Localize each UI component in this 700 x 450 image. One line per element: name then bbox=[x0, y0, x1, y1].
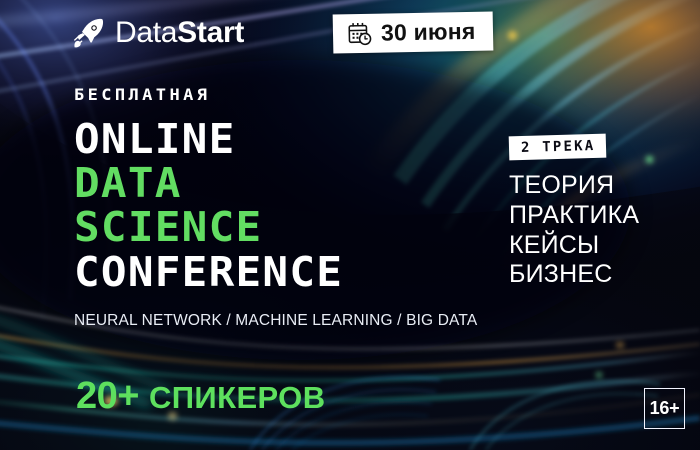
track-item-cases: КЕЙСЫ bbox=[509, 231, 639, 261]
speakers-label: СПИКЕРОВ bbox=[149, 380, 326, 416]
speakers-block: 20+ СПИКЕРОВ bbox=[76, 375, 325, 418]
banner-content: DataStart bbox=[0, 0, 700, 450]
brand-text-bold: Start bbox=[177, 16, 244, 49]
tracks-block: 2 ТРЕКА ТЕОРИЯ ПРАКТИКА КЕЙСЫ БИЗНЕС bbox=[509, 135, 639, 290]
headline-subline: NEURAL NETWORK / MACHINE LEARNING / BIG … bbox=[74, 312, 477, 330]
brand-wordmark: DataStart bbox=[115, 18, 244, 48]
track-item-practice: ПРАКТИКА bbox=[509, 201, 639, 231]
brand-logo[interactable]: DataStart bbox=[72, 16, 244, 50]
age-rating-text: 16+ bbox=[650, 398, 680, 419]
headline-block: БЕСПЛАТНАЯ ONLINE DATA SCIENCE CONFERENC… bbox=[74, 88, 333, 296]
brand-text-light: Data bbox=[115, 16, 177, 49]
tracks-list: ТЕОРИЯ ПРАКТИКА КЕЙСЫ БИЗНЕС bbox=[509, 171, 639, 290]
event-banner: DataStart bbox=[0, 0, 700, 450]
age-rating-badge: 16+ bbox=[644, 388, 685, 429]
date-badge-text: 30 июня bbox=[381, 20, 476, 45]
headline-kicker: БЕСПЛАТНАЯ bbox=[74, 88, 333, 104]
calendar-clock-icon bbox=[347, 21, 372, 46]
headline-line-data: DATA bbox=[74, 163, 343, 203]
headline-line-conference: CONFERENCE bbox=[74, 252, 343, 292]
headline-line-science: SCIENCE bbox=[74, 207, 343, 247]
track-item-business: БИЗНЕС bbox=[509, 260, 639, 290]
date-badge[interactable]: 30 июня bbox=[333, 11, 494, 53]
rocket-icon bbox=[72, 16, 106, 50]
track-item-theory: ТЕОРИЯ bbox=[509, 171, 639, 201]
tracks-count-badge: 2 ТРЕКА bbox=[509, 134, 607, 161]
headline-line-online: ONLINE bbox=[74, 119, 343, 159]
speakers-count: 20+ bbox=[76, 375, 139, 418]
